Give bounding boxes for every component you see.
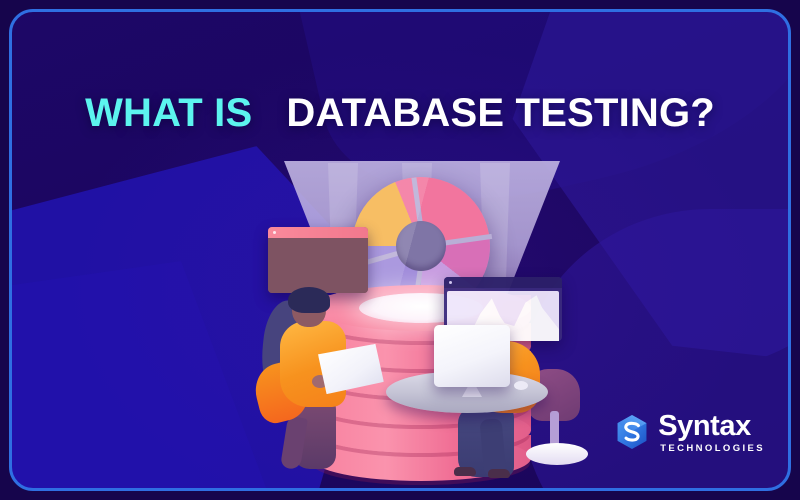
bar-chart-window (268, 227, 368, 293)
window-dot-icon (273, 231, 276, 234)
illustration (256, 159, 586, 479)
computer-monitor (434, 325, 510, 387)
title-main-text: DATABASE TESTING? (286, 91, 715, 135)
person-right-shoe (454, 467, 476, 476)
logo-subtitle: TECHNOLOGIES (658, 444, 765, 454)
computer-mouse (514, 381, 528, 390)
window-titlebar (268, 227, 368, 238)
banner-stage: WHAT IS DATABASE TESTING? (11, 11, 789, 489)
page-title: WHAT IS DATABASE TESTING? (11, 93, 789, 133)
logo-text: Syntax TECHNOLOGIES (658, 412, 765, 454)
person-right-shoe (488, 469, 510, 478)
window-dot-icon (449, 281, 452, 284)
donut-center-hub (396, 221, 446, 271)
person-left (262, 291, 354, 469)
syntax-hexagon-icon (615, 414, 649, 450)
window-titlebar (444, 277, 562, 288)
logo-name: Syntax (658, 412, 765, 441)
banner: WHAT IS DATABASE TESTING? (0, 0, 800, 500)
title-accent-text: WHAT IS (85, 91, 252, 135)
person-left-hair (288, 287, 330, 313)
brand-logo[interactable]: Syntax TECHNOLOGIES (615, 412, 765, 454)
bar-chart-plot (268, 238, 368, 293)
